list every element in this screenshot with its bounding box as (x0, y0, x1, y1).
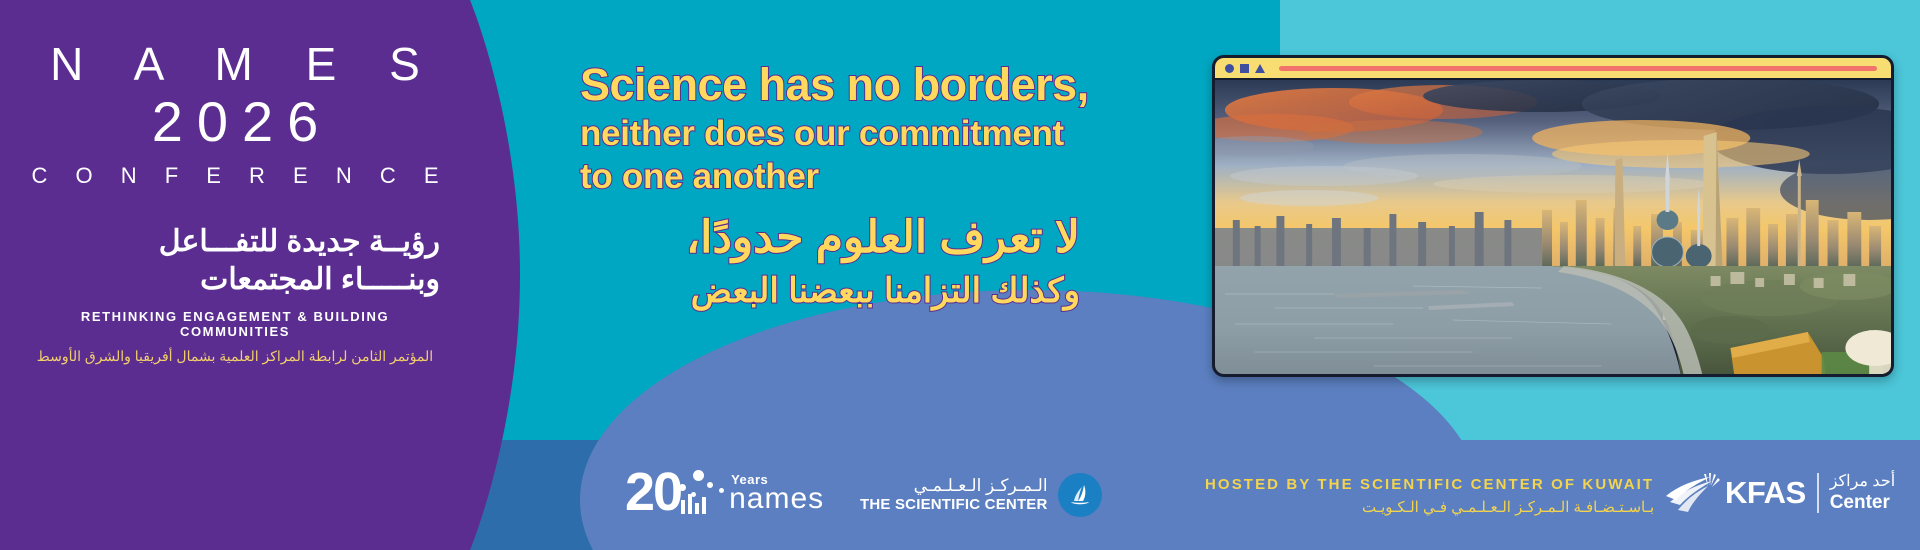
kfas-wordmark: KFAS (1725, 475, 1806, 511)
headline-en-line1: Science has no borders, (580, 62, 1100, 107)
headline-ar-line1: لا تعرف العلوم حدودًا، (580, 212, 1080, 264)
names-20-years-logo: 20 Years names (625, 468, 824, 516)
brand-year: 2026 (138, 90, 333, 154)
kfas-arabic-label: أحد مراكز (1830, 472, 1895, 492)
hosted-by-english: HOSTED BY THE SCIENTIFIC CENTER OF KUWAI… (1205, 476, 1654, 493)
kfas-mark-icon (1664, 472, 1720, 514)
names-20-number: 20 (625, 470, 681, 516)
square-icon (1240, 64, 1249, 73)
circle-icon (1225, 64, 1234, 73)
conference-banner: N A M E S 2026 C O N F E R E N C E رؤيــ… (0, 0, 1920, 550)
browser-toolbar (1215, 58, 1891, 80)
address-bar[interactable] (1279, 66, 1877, 71)
brand-lockup: N A M E S 2026 C O N F E R E N C E رؤيــ… (0, 0, 470, 440)
names-wordmark: names (729, 484, 824, 514)
brand-arabic-slogan-line2: وبنـــــاء المجتمعات (30, 261, 440, 299)
brand-arabic-subtitle: المؤتمر الثامن لرابطة المراكز العلمية بش… (20, 348, 450, 365)
brand-arabic-slogan: رؤيــة جديدة للتفـــاعل وبنـــــاء المجت… (30, 223, 440, 300)
scientific-center-dhow-icon (1058, 473, 1102, 517)
scientific-center-logo: الـمـركـز الـعـلـمـي THE SCIENTIFIC CENT… (860, 473, 1102, 517)
names-dots-icon (675, 468, 727, 514)
brand-english-slogan: RETHINKING ENGAGEMENT & BUILDING COMMUNI… (30, 309, 440, 339)
hosted-by-block: HOSTED BY THE SCIENTIFIC CENTER OF KUWAI… (1205, 476, 1654, 516)
hosted-by-arabic: بـاسـتـضـافـة الـمـركـز الـعـلـمـي فـي ا… (1362, 498, 1654, 516)
triangle-icon (1255, 64, 1265, 73)
browser-window-mock (1212, 55, 1894, 377)
headline-en-line2: neither does our commitment (580, 116, 1100, 151)
headline-block: Science has no borders, neither does our… (580, 62, 1100, 312)
kuwait-skyline-photo (1215, 80, 1891, 376)
brand-conference-word: C O N F E R E N C E (20, 163, 449, 189)
brand-arabic-slogan-line1: رؤيــة جديدة للتفـــاعل (159, 225, 440, 258)
kfas-logo: KFAS أحد مراكز Center (1664, 472, 1895, 515)
headline-ar-line2: وكذلك التزامنا ببعضنا البعض (580, 270, 1080, 313)
scientific-center-arabic: الـمـركـز الـعـلـمـي (914, 476, 1048, 496)
names-bars-icon (681, 494, 706, 514)
brand-names-word: N A M E S (30, 40, 440, 88)
kfas-english-label: Center (1830, 492, 1895, 515)
kfas-divider (1817, 473, 1819, 513)
footer: 20 Years names الـ (0, 440, 1920, 550)
headline-en-line3: to one another (580, 159, 1100, 194)
scientific-center-english: THE SCIENTIFIC CENTER (860, 496, 1048, 514)
